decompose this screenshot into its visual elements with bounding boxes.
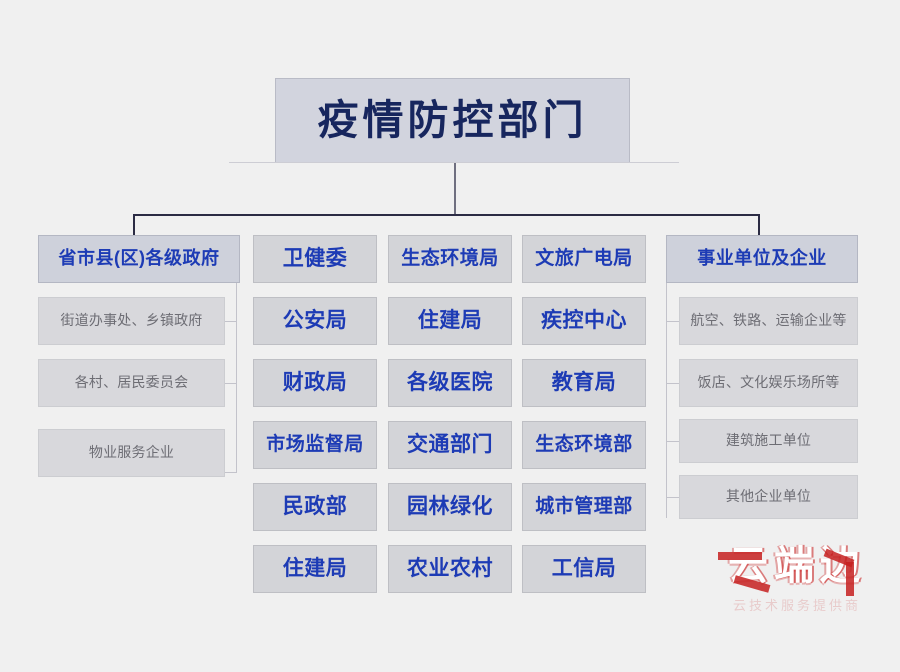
department-col3-1[interactable]: 疾控中心: [522, 297, 646, 345]
department-col2-3[interactable]: 交通部门: [388, 421, 512, 469]
department-col1-2[interactable]: 财政局: [253, 359, 377, 407]
department-col3-3[interactable]: 生态环境部: [522, 421, 646, 469]
department-col3-2[interactable]: 教育局: [522, 359, 646, 407]
department-col1-5[interactable]: 住建局: [253, 545, 377, 593]
department-col3-4[interactable]: 城市管理部: [522, 483, 646, 531]
department-col2-5[interactable]: 农业农村: [388, 545, 512, 593]
connector-stub-government-2: [225, 472, 237, 473]
department-col3-5[interactable]: 工信局: [522, 545, 646, 593]
column-header-enterprise[interactable]: 事业单位及企业: [666, 235, 858, 283]
sub-item-government-0[interactable]: 街道办事处、乡镇政府: [38, 297, 225, 345]
sub-item-enterprise-1[interactable]: 饭店、文化娱乐场所等: [679, 359, 858, 407]
watermark-stroke-icon: [718, 552, 762, 560]
department-col3-0[interactable]: 文旅广电局: [522, 235, 646, 283]
sub-item-enterprise-2[interactable]: 建筑施工单位: [679, 419, 858, 463]
department-col1-1[interactable]: 公安局: [253, 297, 377, 345]
department-col1-3[interactable]: 市场监督局: [253, 421, 377, 469]
watermark-tagline: 云技术服务提供商: [712, 595, 882, 614]
sub-item-enterprise-0[interactable]: 航空、铁路、运输企业等: [679, 297, 858, 345]
connector-drop-right: [758, 214, 760, 236]
org-chart-canvas: 疫情防控部门 省市县(区)各级政府 街道办事处、乡镇政府 各村、居民委员会 物业…: [0, 0, 900, 672]
connector-stub-government-1: [225, 383, 237, 384]
column-header-government[interactable]: 省市县(区)各级政府: [38, 235, 240, 283]
department-col2-1[interactable]: 住建局: [388, 297, 512, 345]
sub-item-government-1[interactable]: 各村、居民委员会: [38, 359, 225, 407]
watermark: 云端边 云技术服务提供商: [712, 546, 882, 622]
department-col2-0[interactable]: 生态环境局: [388, 235, 512, 283]
connector-stub-enterprise-1: [666, 383, 679, 384]
connector-spine-enterprise: [666, 283, 667, 518]
department-col2-2[interactable]: 各级医院: [388, 359, 512, 407]
connector-stub-enterprise-2: [666, 441, 679, 442]
sub-item-enterprise-3[interactable]: 其他企业单位: [679, 475, 858, 519]
connector-root-stem: [454, 163, 456, 215]
watermark-stroke-icon: [846, 562, 854, 596]
root-node-title: 疫情防控部门: [275, 78, 630, 163]
sub-item-government-2[interactable]: 物业服务企业: [38, 429, 225, 477]
connector-spine-government: [236, 283, 237, 473]
connector-stub-enterprise-3: [666, 497, 679, 498]
connector-stub-government-0: [225, 321, 237, 322]
department-col2-4[interactable]: 园林绿化: [388, 483, 512, 531]
department-col1-4[interactable]: 民政部: [253, 483, 377, 531]
connector-stub-enterprise-0: [666, 321, 679, 322]
connector-drop-left: [133, 214, 135, 236]
connector-main-bus: [133, 214, 760, 216]
department-col1-0[interactable]: 卫健委: [253, 235, 377, 283]
